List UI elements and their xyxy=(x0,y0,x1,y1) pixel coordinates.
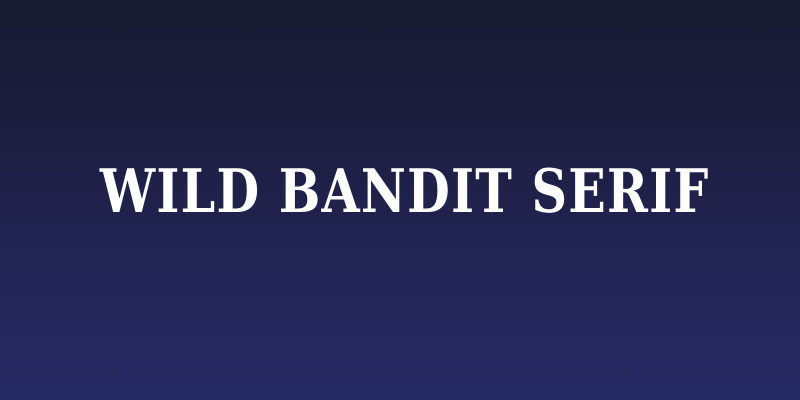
font-specimen-card: WILD BANDIT SERIF xyxy=(0,0,800,400)
font-sample-text: WILD BANDIT SERIF xyxy=(100,162,710,222)
specimen-text-stage: WILD BANDIT SERIF xyxy=(0,162,800,238)
